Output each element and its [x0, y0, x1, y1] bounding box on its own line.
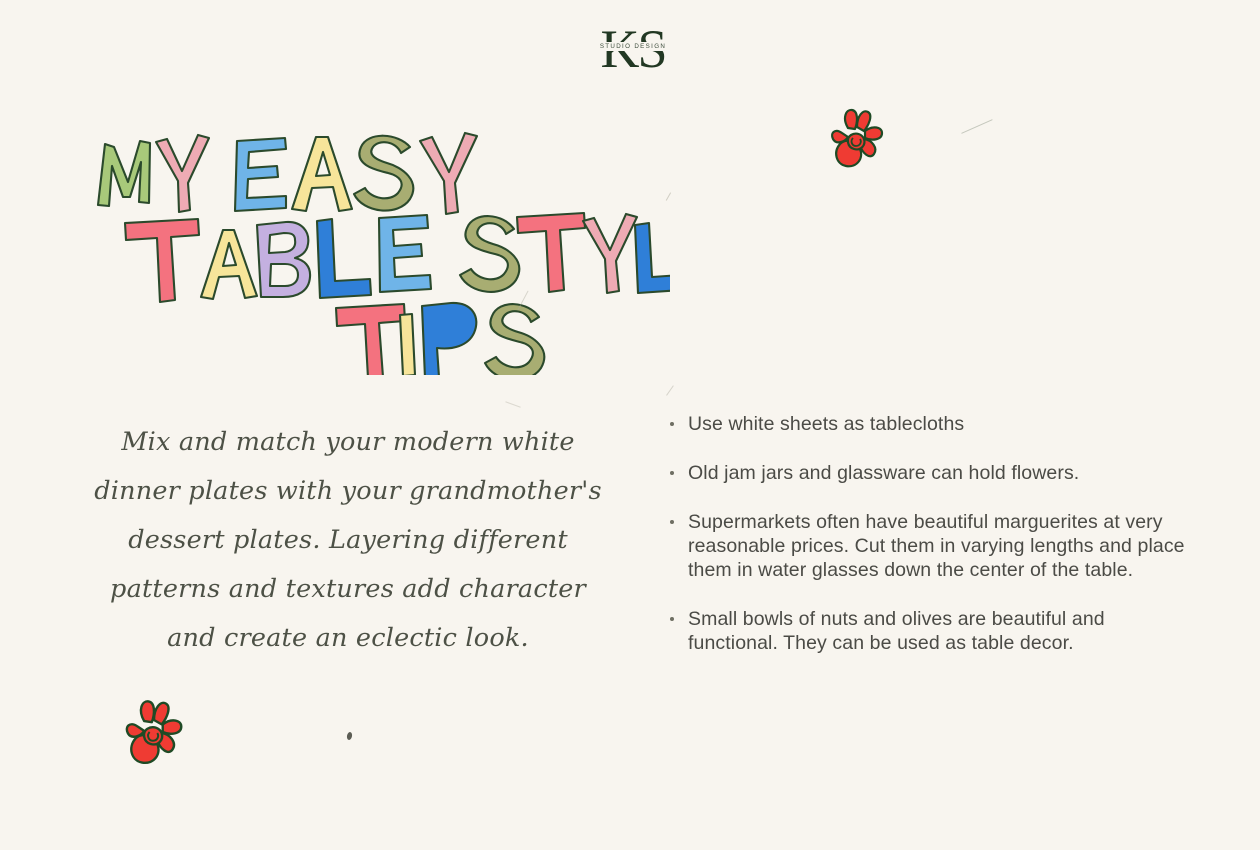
title-letter-s-4 — [485, 304, 544, 375]
bullet-dot-icon — [666, 412, 688, 426]
title-letter-t-2 — [125, 219, 199, 302]
list-item: Supermarkets often have beautiful margue… — [666, 510, 1186, 582]
flower-icon — [824, 104, 890, 172]
title-letter-a-2 — [201, 230, 257, 299]
list-item: Use white sheets as tablecloths — [666, 412, 1186, 436]
title-lettering-svg: .ltr { stroke: #2b4a2c; stroke-width: 2.… — [80, 125, 670, 375]
poster-canvas: KS STUDIO DESIGN .ltr { stroke: #2b4a2c;… — [0, 0, 1260, 850]
bullet-dot-icon — [666, 510, 688, 524]
flower-illustration-bottom — [118, 694, 190, 770]
list-item-text: Small bowls of nuts and olives are beaut… — [688, 607, 1186, 655]
title-letter-y-2 — [420, 133, 477, 214]
title-letter-p-4 — [422, 303, 476, 375]
title-letter-s-2 — [460, 216, 519, 292]
list-item: Small bowls of nuts and olives are beaut… — [666, 607, 1186, 655]
pencil-mark — [505, 401, 520, 408]
logo-subtitle: STUDIO DESIGN — [594, 42, 672, 51]
title-letter-l-3 — [635, 223, 670, 293]
title-letter-i-4 — [400, 314, 415, 375]
title-letter-t-4 — [336, 304, 405, 375]
bullet-dot-icon — [666, 607, 688, 621]
flower-icon — [118, 694, 190, 770]
title-letter-l-2 — [317, 219, 371, 298]
list-item-text: Supermarkets often have beautiful margue… — [688, 510, 1186, 582]
list-item-text: Old jam jars and glassware can hold flow… — [688, 461, 1186, 485]
title-letter-m-1 — [98, 141, 150, 206]
tips-list: Use white sheets as tablecloths Old jam … — [666, 412, 1186, 680]
title-letter-y-3 — [583, 214, 637, 293]
flower-illustration-top — [824, 104, 890, 172]
title-letter-s-1 — [354, 136, 413, 211]
poster-title: .ltr { stroke: #2b4a2c; stroke-width: 2.… — [80, 125, 670, 375]
title-letter-b-2 — [257, 222, 310, 297]
title-letter-e-2 — [379, 215, 431, 292]
brand-logo: KS STUDIO DESIGN — [598, 20, 668, 78]
bullet-dot-icon — [666, 461, 688, 475]
title-letter-e-1 — [235, 138, 286, 211]
title-letter-y-1 — [156, 135, 209, 212]
list-item: Old jam jars and glassware can hold flow… — [666, 461, 1186, 485]
intro-paragraph: Mix and match your modern white dinner p… — [88, 418, 608, 663]
pencil-mark — [666, 385, 674, 395]
title-letter-t-3 — [517, 213, 585, 292]
list-item-text: Use white sheets as tablecloths — [688, 412, 1186, 436]
title-letter-a-1 — [292, 137, 352, 211]
ink-dot-mark — [346, 732, 353, 741]
pencil-mark — [961, 119, 993, 134]
